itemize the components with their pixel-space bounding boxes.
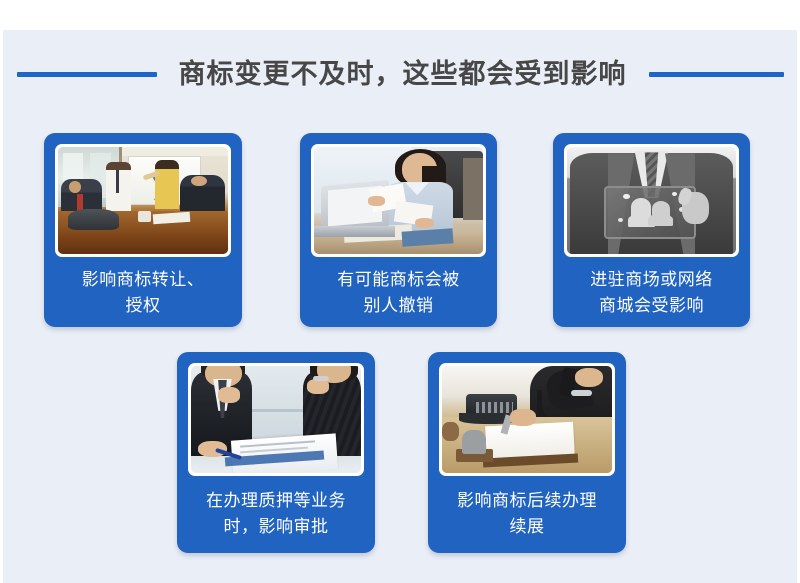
card-caption-line-2: 别人撤销 — [308, 293, 489, 319]
card-caption: 影响商标转让、 授权 — [52, 267, 234, 319]
card-caption-line-2: 授权 — [52, 293, 234, 319]
card-caption: 有可能商标会被 别人撤销 — [308, 267, 489, 319]
impact-card[interactable]: 在办理质押等业务 时，影响审批 — [177, 352, 375, 553]
page-header: 商标变更不及时，这些都会受到影响 — [0, 44, 800, 104]
card-photo-frame — [439, 363, 615, 476]
card-caption-line-2: 续展 — [436, 514, 618, 540]
woman-reviewing-documents-icon — [314, 147, 483, 254]
office-meeting-presentation-icon — [58, 147, 228, 254]
card-caption-line-2: 商城会受影响 — [561, 293, 742, 319]
impact-card[interactable]: 影响商标后续办理 续展 — [428, 352, 626, 553]
title-rule-left-icon — [17, 72, 157, 77]
two-people-contract-review-icon — [191, 366, 361, 473]
card-caption: 进驻商场或网络 商城会受影响 — [561, 267, 742, 319]
person-on-phone-writing-icon — [442, 366, 612, 473]
card-caption-line-2: 时，影响审批 — [185, 514, 367, 540]
impact-card[interactable]: 影响商标转让、 授权 — [44, 133, 242, 327]
page-title: 商标变更不及时，这些都会受到影响 — [179, 61, 627, 88]
impact-card[interactable]: 进驻商场或网络 商城会受影响 — [553, 133, 750, 327]
card-caption-line-1: 有可能商标会被 — [308, 267, 489, 293]
page-root: 商标变更不及时，这些都会受到影响 影响商标转让、 授权 — [0, 0, 800, 583]
title-rule-right-icon — [649, 72, 784, 77]
card-caption-line-1: 在办理质押等业务 — [185, 488, 367, 514]
card-caption: 影响商标后续办理 续展 — [436, 488, 618, 540]
card-photo-frame — [188, 363, 364, 476]
card-caption: 在办理质押等业务 时，影响审批 — [185, 488, 367, 540]
card-caption-line-1: 影响商标后续办理 — [436, 488, 618, 514]
card-photo-frame — [311, 144, 486, 257]
card-caption-line-1: 影响商标转让、 — [52, 267, 234, 293]
card-caption-line-1: 进驻商场或网络 — [561, 267, 742, 293]
impact-card[interactable]: 有可能商标会被 别人撤销 — [300, 133, 497, 327]
businessman-tablet-users-icon — [567, 147, 736, 254]
card-photo-frame — [564, 144, 739, 257]
card-photo-frame — [55, 144, 231, 257]
